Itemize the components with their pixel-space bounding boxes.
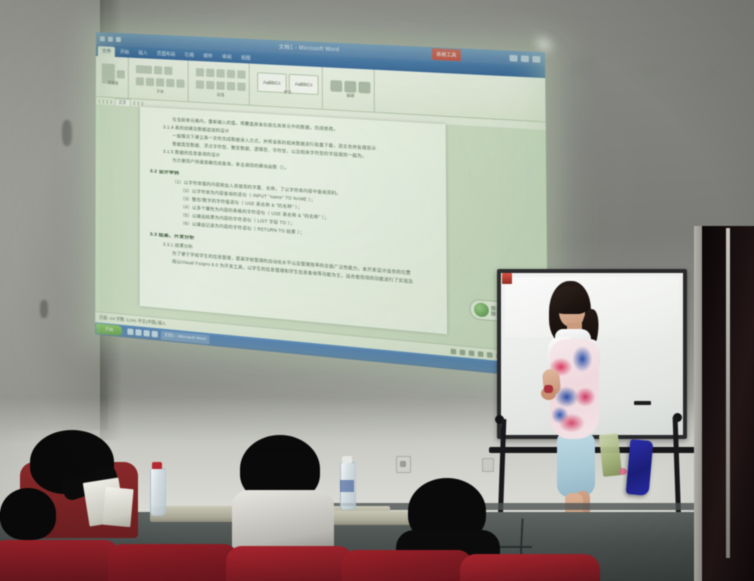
- bottle-label: [340, 480, 354, 492]
- redo-icon[interactable]: [116, 37, 121, 42]
- font-family-select[interactable]: [136, 65, 152, 74]
- seat[interactable]: [226, 546, 354, 581]
- presentation-clicker: [544, 385, 553, 393]
- align-left-icon[interactable]: [196, 80, 204, 89]
- bullet-list-icon[interactable]: [196, 68, 204, 77]
- wall-scuff: [62, 120, 72, 146]
- text-color-icon[interactable]: [176, 79, 184, 88]
- hair-front: [551, 286, 589, 314]
- replace-icon[interactable]: [344, 80, 356, 92]
- classroom-scene: 文档1 - Microsoft Word 表格工具 文件 开始 插入 页面布局 …: [0, 0, 754, 581]
- bottle-cap: [342, 456, 352, 463]
- ruler-tick: [137, 101, 138, 105]
- wall-scuff: [40, 300, 48, 318]
- ruler-tick: [111, 100, 112, 104]
- quick-access-toolbar[interactable]: [100, 36, 121, 42]
- underline-icon[interactable]: [156, 78, 164, 87]
- presenter-pants: [557, 431, 595, 497]
- font-size-select[interactable]: [154, 66, 162, 75]
- multilevel-list-icon[interactable]: [216, 69, 224, 78]
- media-icon[interactable]: [144, 330, 150, 337]
- cut-icon[interactable]: [117, 70, 125, 78]
- seat[interactable]: [342, 550, 472, 581]
- quick-launch[interactable]: [127, 328, 157, 337]
- start-button[interactable]: 开始: [96, 323, 122, 336]
- door-jamb: [726, 228, 730, 558]
- bold-icon[interactable]: [136, 77, 144, 86]
- whiteboard-marker: [634, 401, 651, 405]
- line-spacing-icon[interactable]: [227, 82, 235, 91]
- document-page[interactable]: 在当前单元格内，重新输入的值，将覆盖原来存放在其单元中的数据，完成修改。 3.1…: [140, 107, 448, 335]
- color-wheel-icon[interactable]: [474, 302, 489, 317]
- ribbon-group-label: 剪贴板: [102, 80, 125, 86]
- ie-icon[interactable]: [127, 328, 133, 335]
- grow-font-icon[interactable]: [164, 66, 172, 75]
- desktop-icon[interactable]: [152, 331, 158, 338]
- view-print-layout-icon[interactable]: [450, 348, 456, 354]
- window-controls[interactable]: [509, 54, 540, 62]
- align-center-icon[interactable]: [206, 81, 214, 90]
- ribbon-group-paragraph[interactable]: 段落: [193, 61, 250, 105]
- view-reading-icon[interactable]: [459, 349, 465, 355]
- align-right-icon[interactable]: [216, 81, 224, 90]
- undo-icon[interactable]: [108, 37, 113, 42]
- contextual-tab[interactable]: 表格工具: [432, 48, 461, 61]
- ruler-tick: [141, 102, 142, 106]
- view-draft-icon[interactable]: [487, 351, 493, 357]
- ruler-tick: [133, 101, 134, 105]
- search-icon[interactable]: [330, 80, 342, 92]
- view-web-icon[interactable]: [468, 350, 474, 356]
- ribbon-group-clipboard[interactable]: 剪贴板: [99, 56, 129, 98]
- paper-sheet: [102, 487, 133, 527]
- ruler-tick: [99, 99, 100, 103]
- numbered-list-icon[interactable]: [206, 69, 214, 78]
- increase-indent-icon[interactable]: [237, 70, 245, 79]
- restore-icon[interactable]: [521, 55, 529, 62]
- water-bottle: [150, 468, 166, 516]
- blue-cloth: [626, 439, 654, 496]
- ruler-tick: [107, 100, 108, 104]
- folder-icon[interactable]: [135, 329, 141, 336]
- left-wall: [0, 0, 108, 430]
- close-icon[interactable]: [532, 55, 540, 62]
- seat[interactable]: [108, 544, 238, 581]
- student-head: [0, 488, 56, 540]
- shading-icon[interactable]: [237, 82, 245, 91]
- ribbon-group-styles[interactable]: AaBbCc AaBbCc 样式: [254, 64, 323, 109]
- whiteboard-magnet: [502, 273, 512, 284]
- seat[interactable]: [0, 540, 120, 581]
- view-outline-icon[interactable]: [477, 351, 483, 357]
- italic-icon[interactable]: [146, 78, 154, 87]
- strikethrough-icon[interactable]: [166, 79, 174, 88]
- ribbon-group-label: 编辑: [330, 93, 370, 100]
- ruler-tick: [103, 100, 104, 104]
- select-icon[interactable]: [358, 81, 370, 93]
- student-body: [232, 490, 334, 554]
- projected-screen: 文档1 - Microsoft Word 表格工具 文件 开始 插入 页面布局 …: [95, 32, 548, 379]
- minimize-icon[interactable]: [509, 54, 517, 61]
- ribbon-group-editing[interactable]: 编辑: [327, 67, 375, 111]
- seat[interactable]: [460, 554, 600, 581]
- save-icon[interactable]: [100, 36, 105, 41]
- wall-switch[interactable]: [482, 458, 494, 472]
- ribbon-group-font[interactable]: 字体: [133, 58, 189, 101]
- bottle-cap: [152, 462, 162, 469]
- skirting-board: [330, 503, 754, 510]
- decrease-indent-icon[interactable]: [227, 70, 235, 79]
- pink-marker: [619, 468, 627, 475]
- wall-socket[interactable]: [396, 456, 411, 473]
